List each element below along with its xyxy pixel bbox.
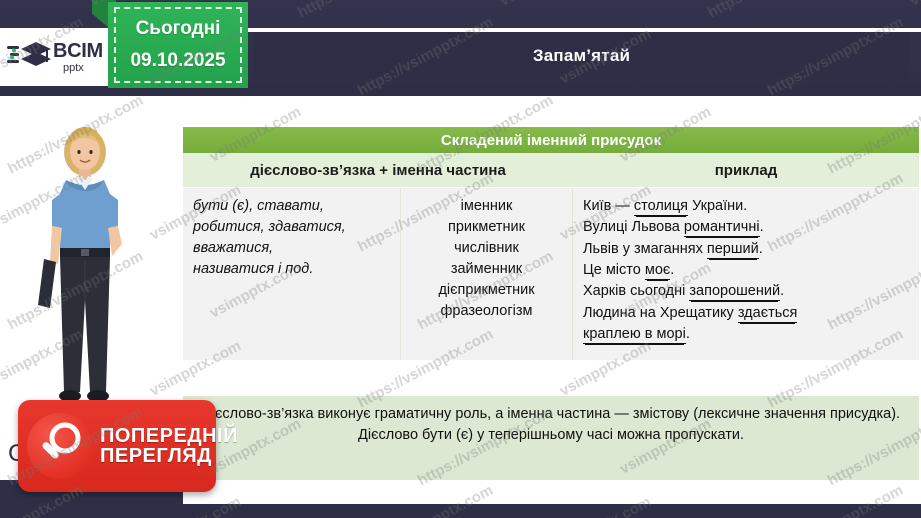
example-line: Це місто моє. bbox=[583, 260, 913, 281]
page-title: Запам’ятай bbox=[533, 46, 630, 66]
table-column-headers: дієслово-зв’язка + іменна частина прикла… bbox=[183, 153, 919, 188]
bottom-dark-band bbox=[0, 504, 921, 518]
linking-verb-line: робитися, здаватися, bbox=[193, 217, 394, 238]
graduation-cap-icon bbox=[6, 37, 52, 77]
date-badge-date: 09.10.2025 bbox=[130, 50, 225, 72]
predicate-underline: краплею в морі bbox=[583, 326, 686, 344]
grammar-table: Складений іменний присудок дієслово-зв’я… bbox=[183, 127, 919, 360]
cell-nominal-parts: іменник прикметник числівник займенник д… bbox=[401, 188, 573, 360]
example-line: Львів у змаганнях перший. bbox=[583, 239, 913, 260]
brand-sub: pptx bbox=[63, 63, 103, 74]
column-header-example: приклад bbox=[573, 162, 919, 179]
date-badge: Сьогодні 09.10.2025 bbox=[108, 2, 248, 88]
example-line: Київ — столиця України. bbox=[583, 196, 913, 217]
example-line: Вулиці Львова романтичні. bbox=[583, 217, 913, 238]
brand-logo-text: BCIM pptx bbox=[53, 41, 103, 74]
table-caption: Складений іменний присудок bbox=[441, 132, 661, 149]
brand-name: BCIM bbox=[53, 41, 103, 61]
predicate-underline: моє bbox=[645, 262, 670, 280]
nominal-part-line: прикметник bbox=[407, 217, 566, 238]
preview-badge-text: ПОПЕРЕДНІЙ ПЕРЕГЛЯД bbox=[100, 426, 238, 467]
predicate-underline: перший bbox=[707, 241, 759, 259]
teacher-illustration bbox=[26, 122, 144, 407]
nominal-part-line: займенник bbox=[407, 259, 566, 280]
nominal-part-line: фразеологізм bbox=[407, 301, 566, 322]
example-line: Людина на Хрещатику здається bbox=[583, 303, 913, 324]
linking-verb-line: бути (є), ставати, bbox=[193, 196, 394, 217]
note-box: Дієслово-зв’язка виконує граматичну роль… bbox=[183, 396, 919, 480]
preview-badge: ПОПЕРЕДНІЙ ПЕРЕГЛЯД bbox=[18, 400, 216, 492]
slide-root: BCIM pptx Сьогодні 09.10.2025 Запам’ятай bbox=[0, 0, 921, 518]
predicate-underline: столиця bbox=[634, 198, 688, 216]
table-body: бути (є), ставати, робитися, здаватися, … bbox=[183, 188, 919, 360]
predicate-underline: запорошений bbox=[689, 283, 780, 301]
preview-badge-line1: ПОПЕРЕДНІЙ bbox=[100, 426, 238, 446]
predicate-underline: здається bbox=[738, 305, 798, 323]
date-badge-label: Сьогодні bbox=[136, 18, 221, 40]
table-caption-bar: Складений іменний присудок bbox=[183, 127, 919, 153]
column-header-linking-verb: дієслово-зв’язка + іменна частина bbox=[183, 162, 573, 179]
nominal-part-line: дієприкметник bbox=[407, 280, 566, 301]
brand-logo: BCIM pptx bbox=[0, 28, 118, 86]
note-text: Дієслово-зв’язка виконує граматичну роль… bbox=[202, 406, 900, 443]
linking-verb-line: вважатися, bbox=[193, 238, 394, 259]
magnifier-icon bbox=[27, 413, 93, 479]
preview-badge-line2: ПЕРЕГЛЯД bbox=[100, 446, 238, 466]
example-line: Харків сьогодні запорошений. bbox=[583, 281, 913, 302]
linking-verb-line: називатися і под. bbox=[193, 259, 394, 280]
slide-title-bar: Запам’ятай bbox=[254, 32, 909, 80]
nominal-part-line: числівник bbox=[407, 238, 566, 259]
cell-examples: Київ — столиця України. Вулиці Львова ро… bbox=[573, 188, 919, 360]
predicate-underline: романтичні bbox=[684, 219, 760, 237]
cell-linking-verbs: бути (є), ставати, робитися, здаватися, … bbox=[183, 188, 401, 360]
example-line: краплею в морі. bbox=[583, 324, 913, 345]
nominal-part-line: іменник bbox=[407, 196, 566, 217]
